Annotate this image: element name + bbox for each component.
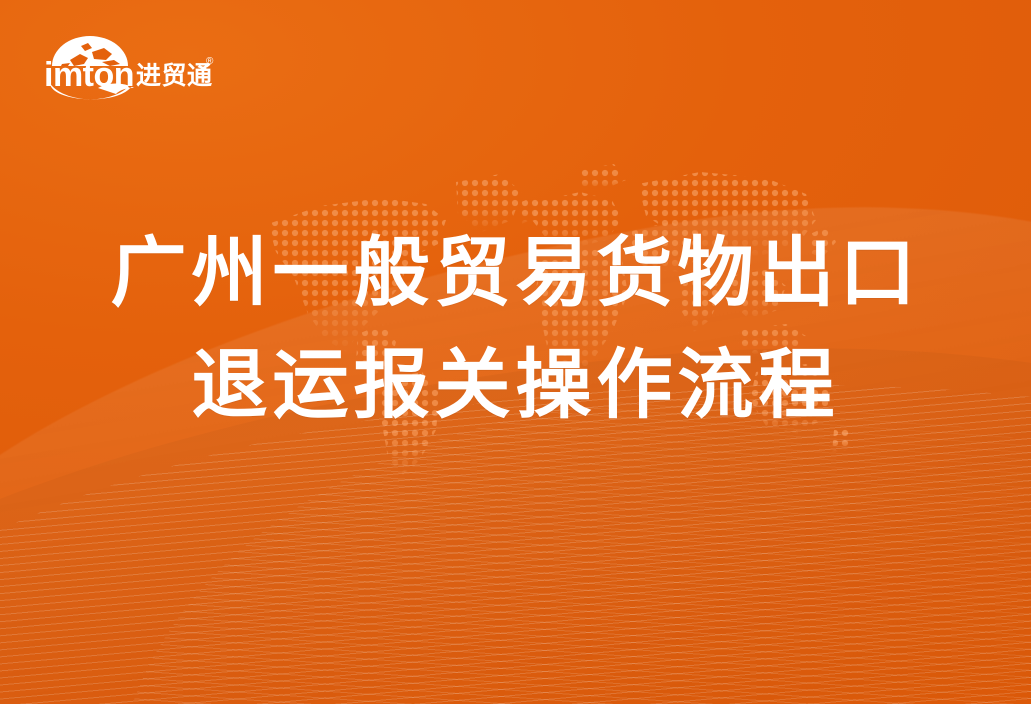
poster-canvas: imton 进贸通 ® 广州一般贸易货物出口 退运报关操作流程	[0, 0, 1031, 704]
brand-logo: imton 进贸通 ®	[40, 26, 220, 104]
page-title-line-2: 退运报关操作流程	[0, 330, 1031, 442]
svg-text:进贸通: 进贸通	[136, 62, 213, 90]
svg-text:®: ®	[206, 56, 214, 67]
page-title-line-1: 广州一般贸易货物出口	[0, 218, 1031, 330]
svg-text:imton: imton	[44, 56, 134, 94]
page-title: 广州一般贸易货物出口 退运报关操作流程	[0, 218, 1031, 442]
